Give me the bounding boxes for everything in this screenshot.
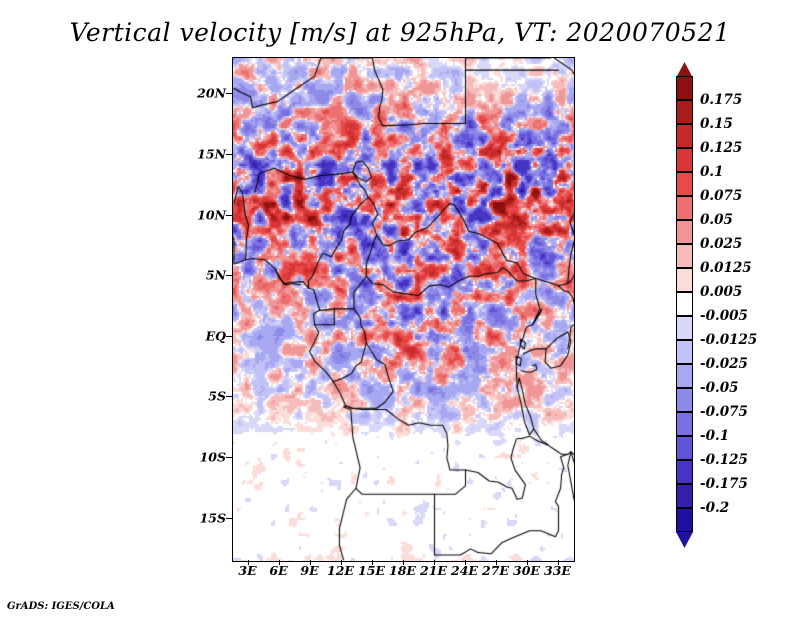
colorbar-label: -0.175 (700, 476, 748, 492)
y-axis-label: EQ (206, 328, 226, 343)
colorbar-label: -0.125 (700, 452, 748, 468)
colorbar-label: 0.05 (700, 212, 733, 228)
x-axis-label: 18E (389, 563, 416, 578)
grads-attribution: GrADS: IGES/COLA (7, 601, 115, 612)
colorbar-label: 0.175 (700, 92, 742, 108)
colorbar-cell (676, 484, 693, 508)
colorbar-label: -0.025 (700, 356, 748, 372)
vertical-velocity-field (233, 58, 574, 561)
x-axis-tick (403, 560, 404, 565)
page-title: Vertical velocity [m/s] at 925hPa, VT: 2… (0, 18, 800, 47)
y-axis-tick (226, 336, 232, 337)
colorbar-cell (676, 340, 693, 364)
colorbar-label: -0.05 (700, 380, 738, 396)
y-axis-tick (226, 275, 232, 276)
colorbar-cap-bottom (676, 532, 693, 548)
x-axis-label: 3E (238, 563, 256, 578)
colorbar (676, 62, 693, 546)
colorbar-label: 0.025 (700, 236, 742, 252)
colorbar-cell (676, 412, 693, 436)
colorbar-cell (676, 316, 693, 340)
x-axis-label: 24E (451, 563, 478, 578)
x-axis-tick (434, 560, 435, 565)
x-axis-label: 33E (544, 563, 571, 578)
colorbar-cell (676, 220, 693, 244)
colorbar-cell (676, 76, 693, 100)
x-axis-label: 9E (300, 563, 318, 578)
x-axis-label: 21E (420, 563, 447, 578)
colorbar-label: 0.125 (700, 140, 742, 156)
colorbar-label: 0.15 (700, 116, 733, 132)
y-axis-tick (226, 457, 232, 458)
y-axis-label: 10S (200, 449, 226, 464)
colorbar-label: 0.0125 (700, 260, 752, 276)
x-axis-label: 30E (513, 563, 540, 578)
y-axis-tick (226, 518, 232, 519)
x-axis-tick (527, 560, 528, 565)
colorbar-cell (676, 172, 693, 196)
y-axis-tick (226, 154, 232, 155)
x-axis-tick (558, 560, 559, 565)
x-axis-tick (279, 560, 280, 565)
y-axis-label: 15S (200, 510, 226, 525)
y-axis-tick (226, 93, 232, 94)
y-axis-label: 20N (197, 86, 226, 101)
colorbar-label: -0.005 (700, 308, 748, 324)
colorbar-cell (676, 460, 693, 484)
map-plot-area (232, 57, 575, 562)
colorbar-label: 0.075 (700, 188, 742, 204)
x-axis-tick (372, 560, 373, 565)
x-axis-label: 15E (358, 563, 385, 578)
x-axis-tick (465, 560, 466, 565)
colorbar-cell (676, 508, 693, 532)
y-axis-label: 5N (206, 268, 226, 283)
colorbar-label: -0.0125 (700, 332, 757, 348)
colorbar-cell (676, 148, 693, 172)
x-axis-tick (496, 560, 497, 565)
colorbar-cell (676, 124, 693, 148)
colorbar-cell (676, 244, 693, 268)
y-axis-label: 5S (208, 389, 226, 404)
y-axis-label: 10N (197, 207, 226, 222)
colorbar-label: -0.075 (700, 404, 748, 420)
colorbar-cell (676, 196, 693, 220)
y-axis-labels: 20N15N10N5NEQ5S10S15S (188, 57, 226, 560)
colorbar-cell (676, 436, 693, 460)
y-axis-label: 15N (197, 146, 226, 161)
colorbar-cell (676, 364, 693, 388)
x-axis-label: 27E (482, 563, 509, 578)
x-axis-label: 6E (269, 563, 287, 578)
x-axis-labels: 3E6E9E12E15E18E21E24E27E30E33E (232, 563, 573, 585)
x-axis-tick (248, 560, 249, 565)
x-axis-tick (310, 560, 311, 565)
y-axis-tick (226, 215, 232, 216)
x-axis-label: 12E (327, 563, 354, 578)
colorbar-label: -0.2 (700, 500, 729, 516)
y-axis-tick (226, 396, 232, 397)
colorbar-cell (676, 388, 693, 412)
colorbar-cell (676, 268, 693, 292)
colorbar-cell (676, 100, 693, 124)
grads-plot-page: Vertical velocity [m/s] at 925hPa, VT: 2… (0, 0, 800, 618)
x-axis-tick (341, 560, 342, 565)
colorbar-label: 0.1 (700, 164, 724, 180)
colorbar-label: 0.005 (700, 284, 742, 300)
colorbar-label: -0.1 (700, 428, 729, 444)
colorbar-cell (676, 292, 693, 316)
